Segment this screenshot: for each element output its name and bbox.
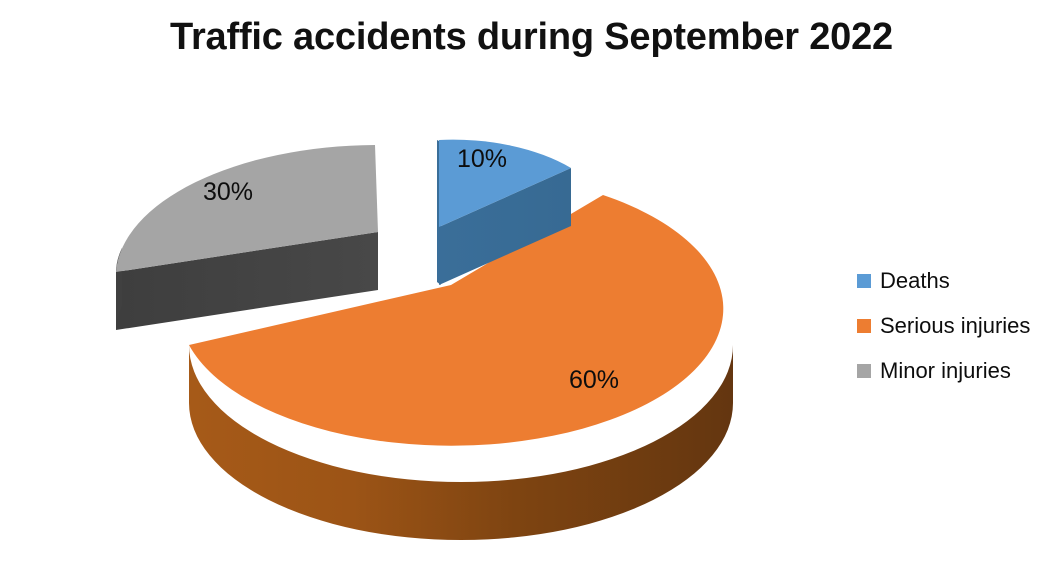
legend-label-minor-injuries: Minor injuries — [880, 360, 1011, 382]
legend-swatch-minor-injuries — [857, 364, 871, 378]
pie-slice-deaths-label: 10% — [457, 145, 507, 173]
legend-item-deaths[interactable]: Deaths — [857, 258, 1063, 303]
pie-slice-minor-injuries-label: 30% — [203, 178, 253, 206]
legend-label-serious-injuries: Serious injuries — [880, 315, 1030, 337]
legend-swatch-deaths — [857, 274, 871, 288]
legend-item-minor-injuries[interactable]: Minor injuries — [857, 348, 1063, 393]
legend-item-serious-injuries[interactable]: Serious injuries — [857, 303, 1063, 348]
chart-legend: Deaths Serious injuries Minor injuries — [857, 258, 1063, 393]
legend-label-deaths: Deaths — [880, 270, 950, 292]
pie-slice-minor-injuries[interactable]: 30% — [116, 145, 378, 330]
pie-chart-figure: Traffic accidents during September 2022 — [0, 0, 1063, 565]
legend-swatch-serious-injuries — [857, 319, 871, 333]
pie-slice-serious-injuries-label: 60% — [569, 366, 619, 394]
